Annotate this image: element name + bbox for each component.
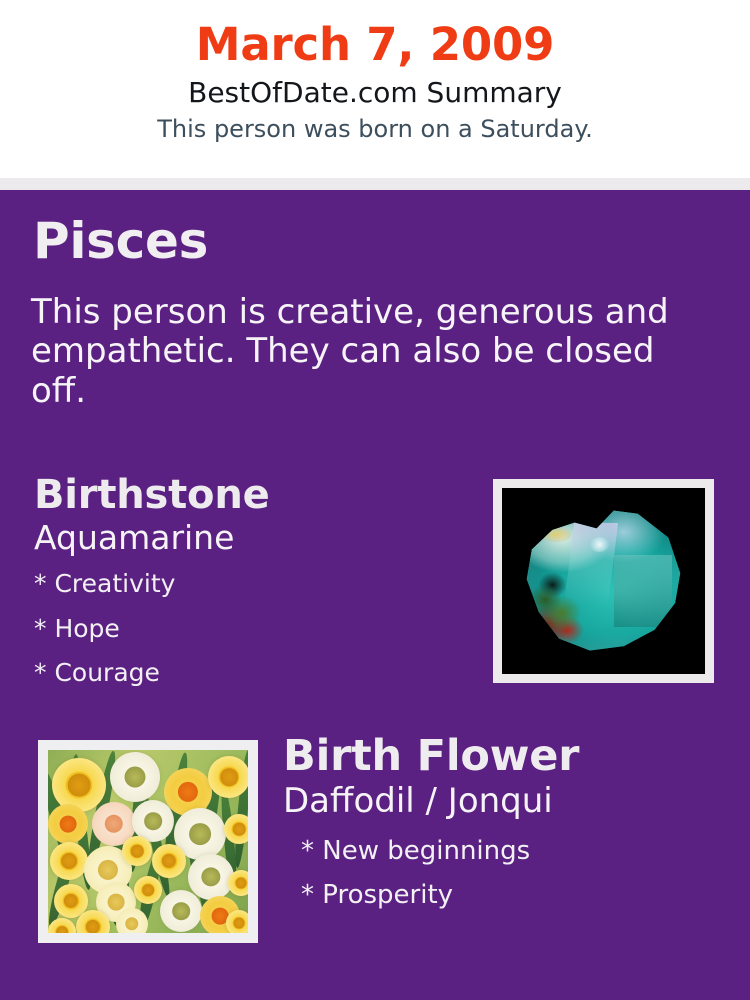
aquamarine-crystal-image bbox=[502, 488, 705, 674]
birthstone-trait-list: * Creativity * Hope * Courage bbox=[34, 562, 474, 696]
list-item: * Prosperity bbox=[301, 873, 723, 918]
birthstone-name: Aquamarine bbox=[34, 520, 474, 556]
daffodil-bloom bbox=[188, 854, 234, 900]
daffodil-bloom bbox=[122, 836, 152, 866]
list-item: * New beginnings bbox=[301, 829, 723, 874]
daffodil-bloom bbox=[116, 908, 148, 933]
birth-flower-trait-list: * New beginnings * Prosperity bbox=[283, 829, 723, 918]
crystal-facet-right bbox=[614, 555, 672, 626]
summary-page: March 7, 2009 BestOfDate.com Summary Thi… bbox=[0, 0, 750, 1000]
crystal-yellow-patch bbox=[542, 527, 571, 542]
daffodil-bloom bbox=[48, 918, 76, 933]
zodiac-description: This person is creative, generous and em… bbox=[31, 293, 703, 411]
daffodil-bloom bbox=[160, 890, 202, 932]
daffodil-bloom bbox=[48, 804, 88, 844]
page-title-date: March 7, 2009 bbox=[0, 22, 750, 68]
daffodil-bloom bbox=[208, 756, 248, 798]
daffodil-bloom bbox=[110, 752, 160, 802]
daffodil-bloom bbox=[134, 876, 162, 904]
birth-flower-heading: Birth Flower bbox=[283, 735, 723, 778]
birthstone-heading: Birthstone bbox=[34, 475, 474, 515]
crystal-body bbox=[518, 505, 689, 654]
birth-flower-name: Daffodil / Jonqui bbox=[283, 783, 723, 820]
header-divider bbox=[0, 178, 750, 190]
site-summary-label: BestOfDate.com Summary bbox=[0, 75, 750, 110]
zodiac-sign-title: Pisces bbox=[33, 216, 208, 266]
list-item: * Creativity bbox=[34, 562, 474, 607]
daffodil-bloom bbox=[52, 758, 106, 812]
birthstone-image-frame bbox=[493, 479, 714, 683]
daffodil-bloom bbox=[224, 814, 248, 844]
daffodil-bloom bbox=[50, 842, 88, 880]
list-item: * Hope bbox=[34, 607, 474, 652]
crystal-mineral-inclusion bbox=[528, 582, 586, 642]
daffodil-flowers-image bbox=[48, 750, 248, 933]
crystal-highlight bbox=[590, 537, 609, 552]
birth-day-note: This person was born on a Saturday. bbox=[0, 114, 750, 144]
birthstone-section: Birthstone Aquamarine * Creativity * Hop… bbox=[34, 475, 474, 696]
page-header: March 7, 2009 BestOfDate.com Summary Thi… bbox=[0, 0, 750, 178]
daffodil-bloom bbox=[228, 870, 248, 896]
birth-flower-section: Birth Flower Daffodil / Jonqui * New beg… bbox=[283, 735, 723, 918]
list-item: * Courage bbox=[34, 651, 474, 696]
daffodil-bloom bbox=[152, 844, 186, 878]
daffodil-bloom bbox=[226, 910, 248, 933]
birth-flower-image-frame bbox=[38, 740, 258, 943]
